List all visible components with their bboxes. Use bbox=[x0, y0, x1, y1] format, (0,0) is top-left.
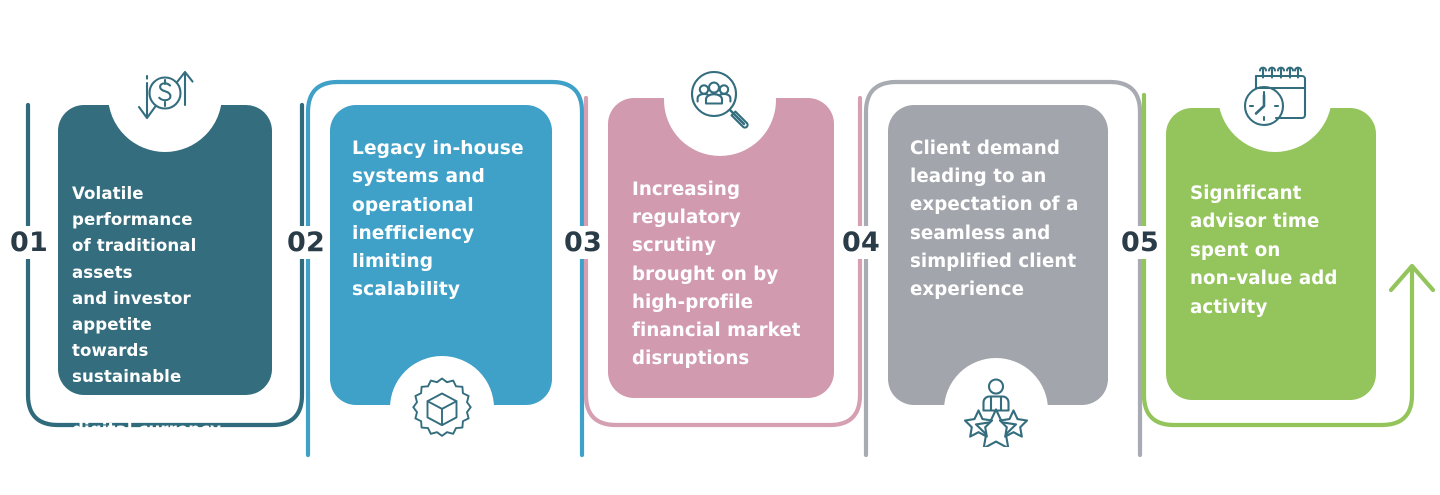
person-stars-icon bbox=[959, 373, 1033, 447]
dollar-up-down-arrows-icon bbox=[127, 57, 203, 133]
step-icon-circle-04 bbox=[944, 358, 1048, 462]
calendar-clock-icon bbox=[1236, 56, 1314, 134]
step-number-02: 02 bbox=[285, 226, 327, 259]
magnifier-people-icon bbox=[682, 62, 758, 138]
step-text-03: Increasing regulatory scrutiny brought o… bbox=[608, 176, 834, 373]
step-text-05: Significant advisor time spent on non-va… bbox=[1166, 180, 1376, 322]
step-icon-circle-02 bbox=[390, 356, 494, 460]
gear-cube-icon bbox=[407, 373, 477, 443]
step-number-04: 04 bbox=[840, 226, 882, 259]
step-text-04: Client demand leading to an expectation … bbox=[888, 135, 1108, 304]
step-number-03: 03 bbox=[562, 226, 604, 259]
step-text-02: Legacy in-house systems and operational … bbox=[330, 135, 552, 305]
step-number-01: 01 bbox=[8, 226, 50, 259]
step-icon-circle-05 bbox=[1218, 38, 1332, 152]
infographic-root: Volatile performance of traditional asse… bbox=[0, 0, 1440, 483]
step-icon-circle-03 bbox=[664, 44, 776, 156]
step-icon-circle-01 bbox=[108, 38, 222, 152]
step-text-01: Volatile performance of traditional asse… bbox=[58, 181, 272, 495]
step-number-05: 05 bbox=[1119, 226, 1161, 259]
